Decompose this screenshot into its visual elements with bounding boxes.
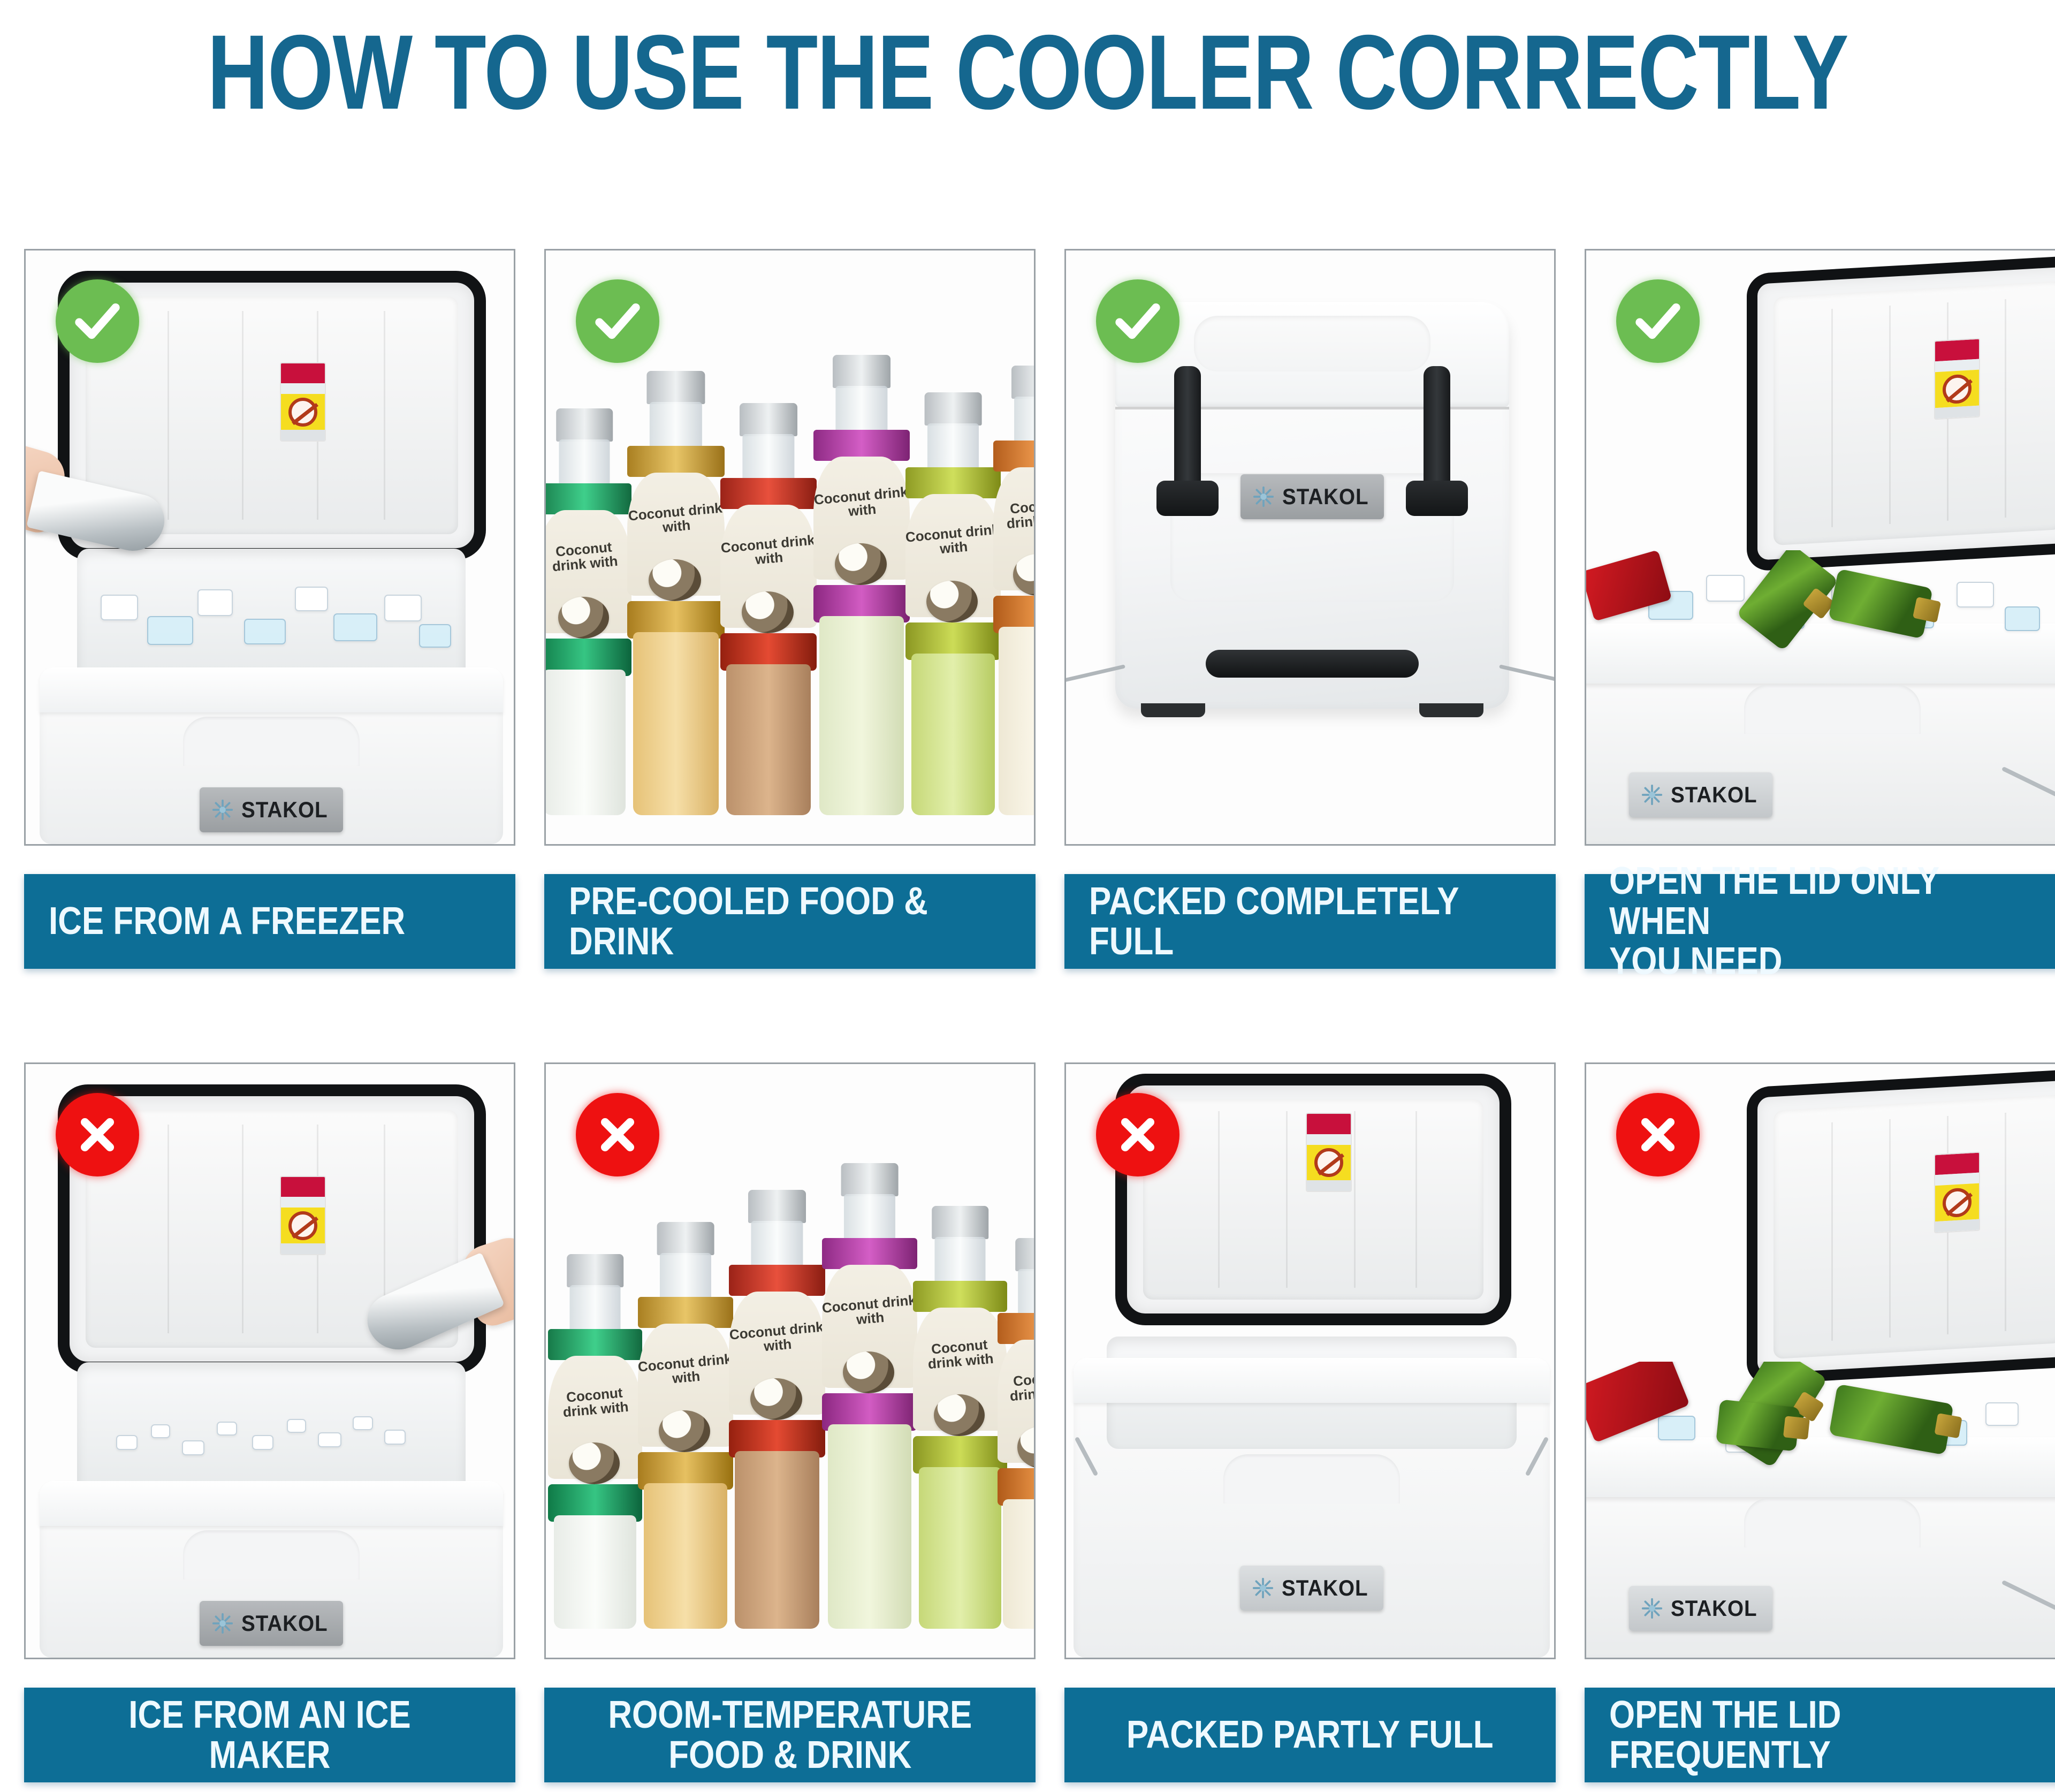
caption-text: ICE FROM A FREEZER	[49, 901, 405, 941]
cooler-tub: STAKOL	[1585, 651, 2055, 844]
cross-badge	[56, 1093, 139, 1176]
cooler-tub: STAKOL	[40, 667, 503, 844]
handle-wire-right	[1525, 1437, 1549, 1476]
warning-sticker	[280, 362, 326, 442]
no-sitting-warning-icon	[1943, 1187, 1972, 1218]
latch-right	[1416, 366, 1458, 516]
crushed-ice-pile	[77, 1362, 466, 1497]
check-circle-icon	[1110, 294, 1165, 348]
stakol-logo-badge: STAKOL	[200, 1601, 343, 1646]
page-title: HOW TO USE THE COOLER CORRECTLY	[207, 19, 1848, 125]
panel-open-lid-only-when-needed[interactable]: STAKOL OPEN THE LID ONLY WHEN YOU NEED	[1585, 249, 2055, 969]
panel-photo: STAKOL	[1064, 249, 1556, 846]
cooler-closed: STAKOL	[1115, 302, 1509, 709]
panel-photo: Coconut drink with Coconut drink with	[544, 249, 1036, 846]
bottle-4: Coconut drink with	[822, 1163, 917, 1629]
panel-row-bottom: STAKOL ICE FROM AN ICE MAKER	[24, 1062, 2034, 1782]
warning-sticker	[1934, 1151, 1980, 1233]
bottle-2: Coconut drink with	[638, 1222, 733, 1629]
bottle-4: Coconut drink with	[813, 355, 910, 815]
panel-photo: STAKOL	[24, 249, 515, 846]
stakol-wordmark: STAKOL	[241, 797, 328, 823]
stakol-wordmark: STAKOL	[241, 1611, 328, 1636]
warning-sticker	[280, 1176, 326, 1255]
cooler-contents	[1585, 550, 2055, 663]
bottle-5: Coconut drink with	[905, 392, 1001, 815]
bottle-1: Coconut drink with	[548, 1254, 642, 1629]
handle-wire-right	[1499, 664, 1556, 685]
lid-inner-panel	[1774, 281, 2055, 545]
cross-badge	[1096, 1093, 1179, 1176]
x-circle-icon	[70, 1107, 125, 1162]
handle-wire-right	[2001, 1580, 2055, 1628]
stakol-logo-badge: STAKOL	[1629, 772, 1772, 817]
panel-packed-completely-full[interactable]: STAKOL PACKED COMPLETELY FU	[1064, 249, 1556, 969]
latch-left	[1167, 366, 1208, 516]
panel-caption: PACKED PARTLY FULL	[1064, 1688, 1556, 1782]
snowflake-icon	[1251, 1576, 1275, 1600]
panel-room-temperature-food-drink[interactable]: Coconut drink with Coconut drink with	[544, 1062, 1036, 1782]
ice-pile	[77, 549, 466, 684]
panel-ice-from-freezer[interactable]: STAKOL ICE FROM A FREEZER	[24, 249, 515, 969]
panel-packed-partly-full[interactable]: STAKOL PACKED PARTLY FULL	[1064, 1062, 1556, 1782]
panel-caption: OPEN THE LID FREQUENTLY	[1585, 1688, 2055, 1782]
cooler-tub: STAKOL	[1585, 1465, 2055, 1658]
snowflake-icon	[1251, 484, 1276, 509]
panel-photo: STAKOL	[24, 1062, 515, 1659]
snowflake-icon	[1640, 1596, 1664, 1621]
stakol-wordmark: STAKOL	[1282, 484, 1369, 510]
checkmark-badge	[576, 279, 659, 363]
x-circle-icon	[590, 1107, 645, 1162]
panel-open-lid-frequently[interactable]: STAKOL OPEN THE LID FREQUENTLY	[1585, 1062, 2055, 1782]
cooler-lid-open	[1747, 1068, 2055, 1385]
check-circle-icon	[70, 294, 125, 348]
no-sitting-warning-icon	[1314, 1148, 1343, 1177]
no-sitting-warning-icon	[1943, 374, 1972, 404]
panel-photo: Coconut drink with Coconut drink with	[544, 1062, 1036, 1659]
handle-wire-left	[1064, 664, 1125, 685]
stakol-logo-badge: STAKOL	[1240, 474, 1384, 519]
panel-ice-from-ice-maker[interactable]: STAKOL ICE FROM AN ICE MAKER	[24, 1062, 515, 1782]
stakol-wordmark: STAKOL	[1282, 1575, 1368, 1601]
bottle-2: Coconut drink with	[627, 371, 725, 815]
caption-text: PRE-COOLED FOOD & DRINK	[569, 882, 949, 962]
caption-text: OPEN THE LID ONLY WHEN YOU NEED	[1609, 861, 1989, 982]
panel-photo: STAKOL	[1585, 249, 2055, 846]
bottle-6: Coconut drink with	[998, 1238, 1036, 1629]
x-circle-icon	[1631, 1107, 1685, 1162]
panel-photo: STAKOL	[1064, 1062, 1556, 1659]
stakol-logo-badge: STAKOL	[1240, 1566, 1383, 1611]
green-bottle-2	[1716, 1399, 1800, 1451]
caption-text: ROOM-TEMPERATURE FOOD & DRINK	[608, 1695, 972, 1775]
panel-photo: STAKOL	[1585, 1062, 2055, 1659]
cooler-basin	[77, 549, 466, 684]
no-sitting-warning-icon	[288, 1211, 317, 1240]
carry-handle	[1206, 650, 1418, 678]
no-sitting-warning-icon	[288, 398, 317, 427]
check-circle-icon	[1631, 294, 1685, 348]
cooler-lid-open	[1747, 255, 2055, 572]
panel-caption: PACKED COMPLETELY FULL	[1064, 874, 1556, 969]
lid-inner-panel	[1774, 1095, 2055, 1359]
stakol-logo-badge: STAKOL	[1629, 1586, 1772, 1631]
stakol-wordmark: STAKOL	[1671, 782, 1757, 808]
cooler-lid-open	[1115, 1074, 1511, 1325]
snowflake-icon	[210, 798, 235, 822]
panel-grid: STAKOL ICE FROM A FREEZER	[24, 249, 2034, 1785]
cooler-basin	[77, 1362, 466, 1497]
warning-sticker	[1306, 1113, 1352, 1192]
warning-sticker	[1934, 338, 1980, 420]
handle-wire-left	[1075, 1437, 1099, 1476]
handle-wire-right	[2001, 766, 2055, 815]
bottle-3: Coconut drink with	[729, 1190, 825, 1629]
bottle-5: Coconut drink with	[913, 1206, 1007, 1629]
snowflake-icon	[210, 1611, 235, 1636]
panel-caption: ICE FROM AN ICE MAKER	[24, 1688, 515, 1782]
panel-row-top: STAKOL ICE FROM A FREEZER	[24, 249, 2034, 969]
cooler-tub: STAKOL	[40, 1481, 503, 1658]
caption-text: OPEN THE LID FREQUENTLY	[1609, 1695, 1989, 1775]
panel-pre-cooled-food-drink[interactable]: Coconut drink with Coconut drink with	[544, 249, 1036, 969]
panel-caption: PRE-COOLED FOOD & DRINK	[544, 874, 1036, 969]
stakol-logo-badge: STAKOL	[200, 787, 343, 832]
caption-text: PACKED COMPLETELY FULL	[1089, 882, 1469, 962]
caption-text: ICE FROM AN ICE MAKER	[80, 1695, 460, 1775]
check-circle-icon	[590, 294, 645, 348]
checkmark-badge	[56, 279, 139, 363]
cross-badge	[1616, 1093, 1700, 1176]
checkmark-badge	[1616, 279, 1700, 363]
panel-caption: ROOM-TEMPERATURE FOOD & DRINK	[544, 1688, 1036, 1782]
checkmark-badge	[1096, 279, 1179, 363]
x-circle-icon	[1110, 1107, 1165, 1162]
cooler-contents	[1585, 1362, 2055, 1474]
cooler-tub: STAKOL	[1074, 1358, 1550, 1658]
panel-caption: OPEN THE LID ONLY WHEN YOU NEED	[1585, 874, 2055, 969]
bottle-6: Coconut drink with	[993, 366, 1036, 815]
bottle-1: Coconut drink with	[544, 408, 631, 815]
cross-badge	[576, 1093, 659, 1176]
snowflake-icon	[1640, 783, 1664, 807]
stakol-wordmark: STAKOL	[1671, 1596, 1757, 1621]
page-header: HOW TO USE THE COOLER CORRECTLY	[0, 0, 2055, 145]
panel-caption: ICE FROM A FREEZER	[24, 874, 515, 969]
bottle-3: Coconut drink with	[720, 403, 817, 815]
caption-text: PACKED PARTLY FULL	[1127, 1715, 1494, 1755]
